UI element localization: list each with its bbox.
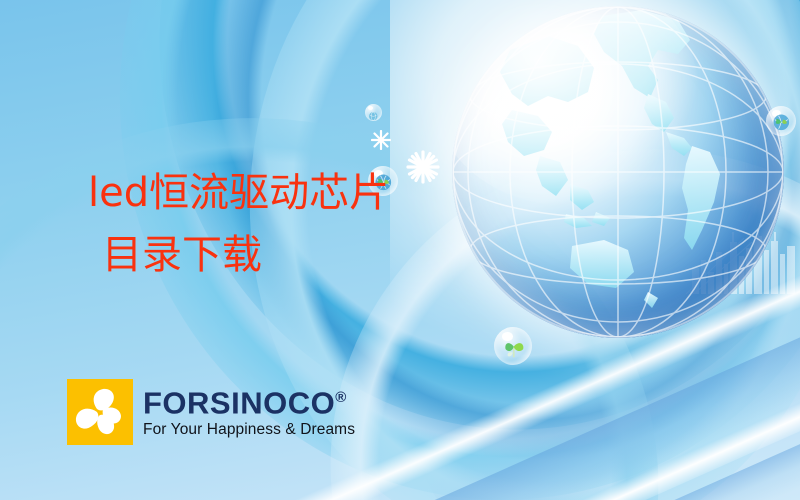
starburst-large-icon [406,150,440,184]
mini-globe-icon [772,113,791,130]
headline-line-2: 目录下载 [88,224,389,286]
company-logo: FORSINOCO® For Your Happiness & Dreams [67,379,355,445]
led-driver-catalog-banner: led恒流驱动芯片 目录下载 FORSINOCO® For Your Happi… [0,0,800,500]
forsinoco-pinwheel-mark-icon [67,379,133,445]
registered-trademark-symbol: ® [335,389,347,406]
logo-company-name: FORSINOCO® [143,382,355,419]
logo-tagline: For Your Happiness & Dreams [143,420,355,439]
bubble-leaf [494,327,532,365]
headline-line-1: led恒流驱动芯片 [88,170,389,216]
bubble-globe-small [365,104,382,121]
logo-name-text: FORSINOCO [143,385,335,420]
mini-globe-icon [368,108,379,118]
bubble-globe-edge [766,106,796,136]
page-title: led恒流驱动芯片 目录下载 [88,162,389,286]
logo-text-block: FORSINOCO® For Your Happiness & Dreams [143,382,355,439]
starburst-small-icon [371,130,391,150]
green-leaf-icon [502,336,526,357]
